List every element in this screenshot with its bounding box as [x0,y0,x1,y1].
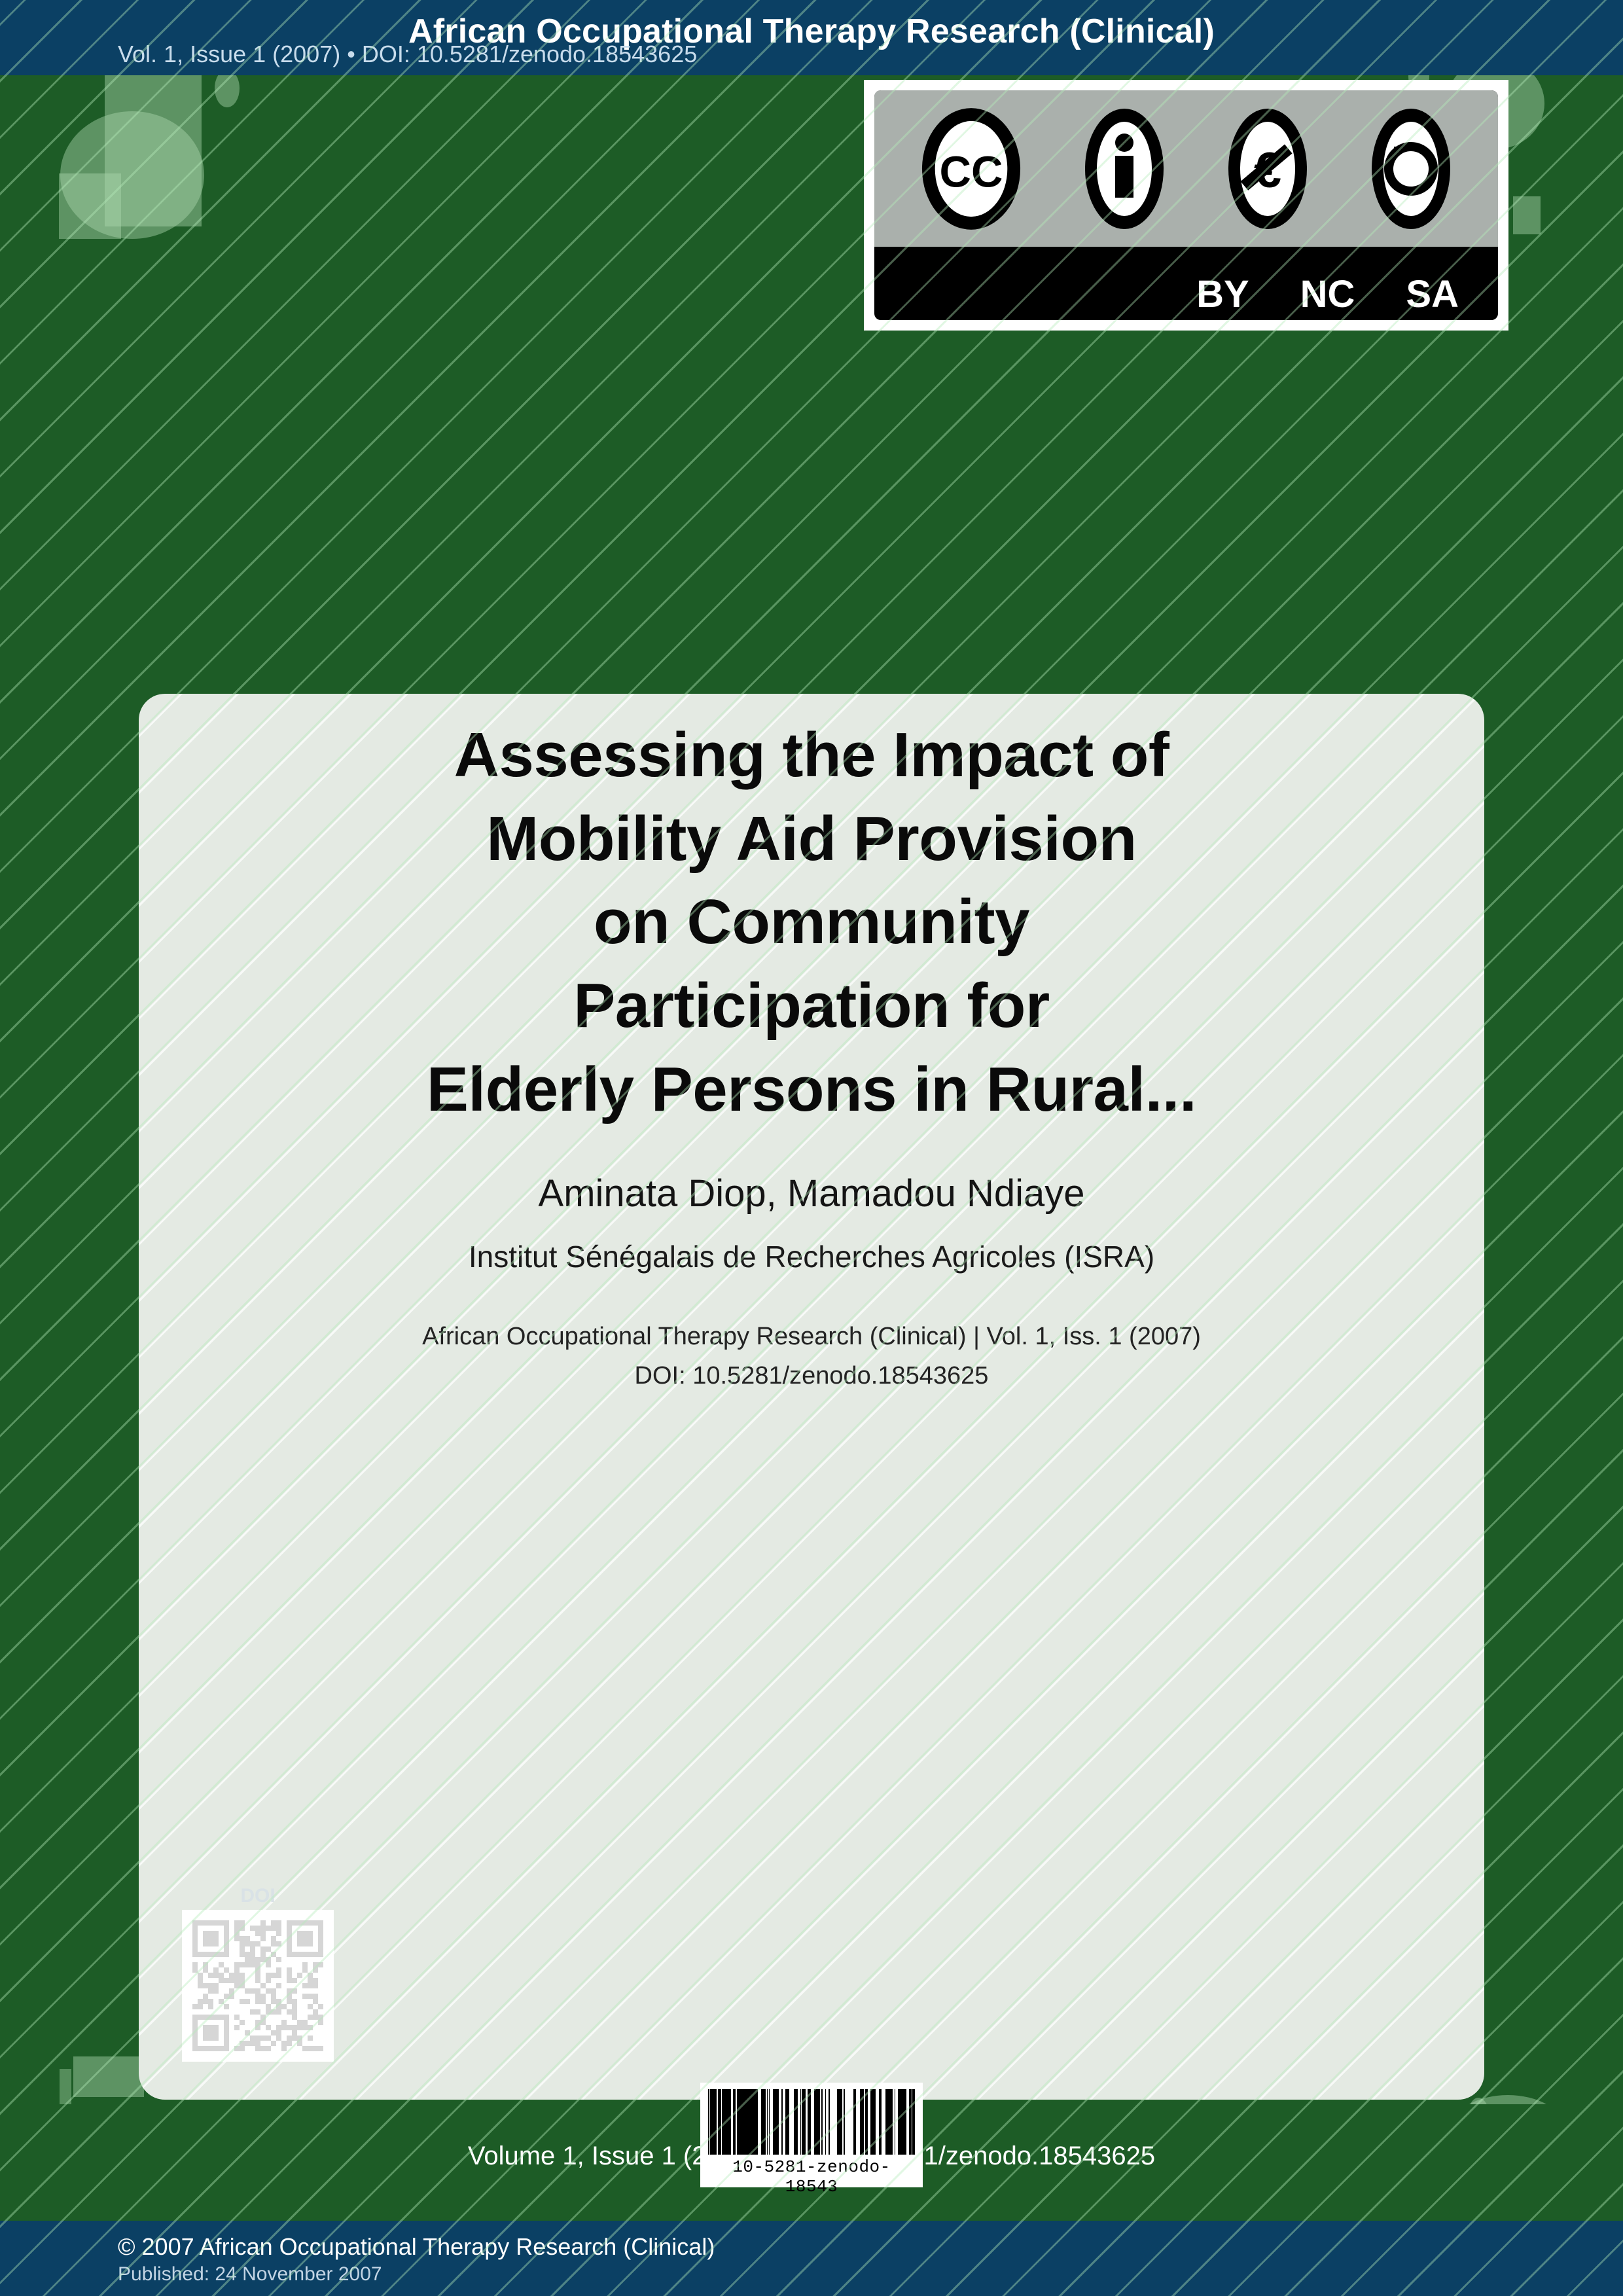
doi-barcode[interactable]: 10-5281-zenodo-18543 [700,2083,923,2187]
journal-volume-line: Vol. 1, Issue 1 (2007) • DOI: 10.5281/ze… [118,41,697,68]
barcode-text: 10-5281-zenodo-18543 [708,2157,915,2197]
svg-text:CC: CC [940,148,1003,197]
cc-label-sa: SA [1406,272,1459,316]
published-date: Published: 24 November 2007 [118,2263,382,2286]
cc-label-by: BY [1196,272,1249,316]
paper-title-line: on Community [217,880,1406,964]
cc-sa-sharealike-icon [1369,103,1453,238]
cc-nc-noncommercial-icon: € [1226,103,1310,238]
barcode-bars [708,2089,915,2155]
qr-label: DOI [182,1885,334,1907]
paper-title-line: Mobility Aid Provision [217,797,1406,881]
cc-by-nc-sa-badge[interactable]: CC € [864,80,1508,331]
paper-affiliation: Institut Sénégalais de Recherches Agrico… [139,1239,1484,1274]
paper-title-line: Assessing the Impact of [217,713,1406,797]
decor-rect-bottom-left [73,2056,144,2097]
qr-matrix [192,1920,323,2051]
paper-title: Assessing the Impact of Mobility Aid Pro… [139,713,1484,1131]
paper-authors: Aminata Diop, Mamadou Ndiaye [139,1172,1484,1215]
paper-title-line: Elderly Persons in Rural... [217,1048,1406,1132]
cc-by-person-icon [1082,103,1166,238]
cc-label-nc: NC [1300,272,1355,316]
doi-qr-code[interactable]: DOI [182,1910,334,2062]
decor-rect-top-left-2 [59,173,121,239]
cc-logo-icon: CC [919,103,1023,238]
decor-rect-top-right [1513,196,1541,234]
journal-cover-page: African Occupational Therapy Research (C… [0,0,1623,2296]
paper-title-line: Participation for [217,964,1406,1048]
copyright-text: © 2007 African Occupational Therapy Rese… [118,2233,715,2261]
article-card: Assessing the Impact of Mobility Aid Pro… [139,694,1484,2100]
paper-citation: African Occupational Therapy Research (C… [337,1320,1286,1354]
paper-doi: DOI: 10.5281/zenodo.18543625 [139,1362,1484,1390]
